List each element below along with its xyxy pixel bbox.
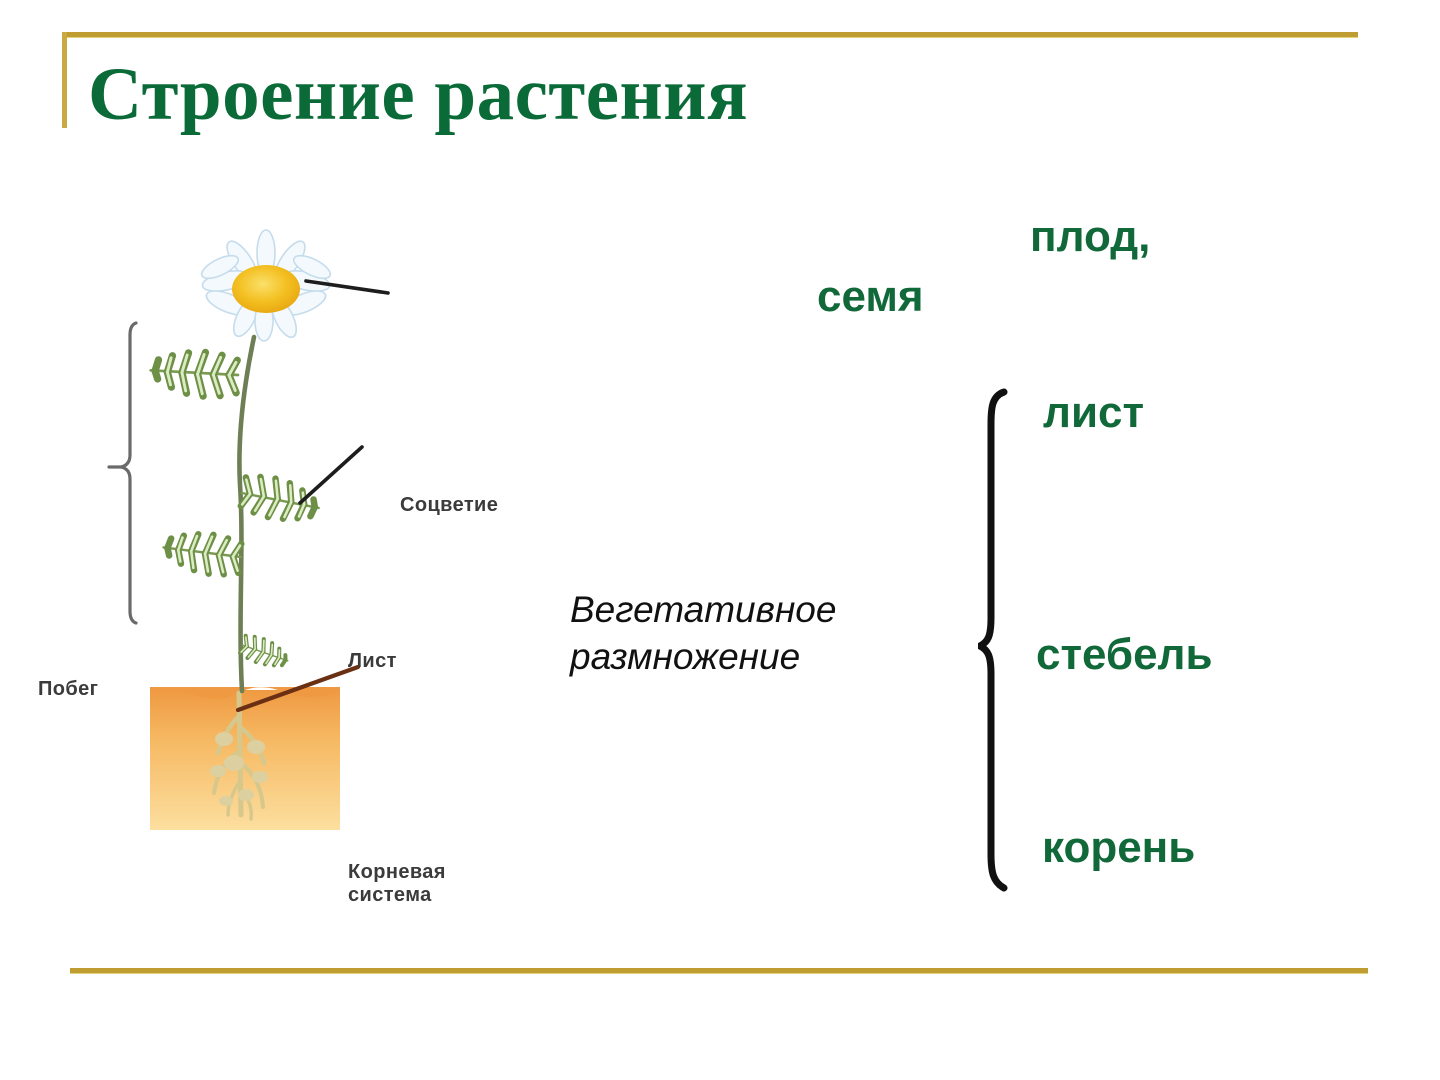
gold-rule-top (62, 32, 1358, 37)
label-fruit: плод, (1030, 212, 1150, 262)
label-inflorescence: Соцветие (400, 494, 498, 517)
flower-head (199, 230, 334, 341)
curly-brace-icon (978, 380, 1018, 900)
label-root-system-line2: система (348, 884, 432, 906)
page-title: Строение растения (88, 52, 748, 138)
pointer-leaf (300, 447, 362, 503)
vegetative-propagation-caption: Вегетативное размножение (570, 586, 836, 681)
label-vegetative-stem: стебель (1036, 630, 1213, 680)
leaf-upper-left (149, 347, 240, 400)
gold-rule-left (62, 32, 67, 128)
leaf-mid-right (238, 472, 323, 529)
label-vegetative-root: корень (1042, 823, 1195, 873)
label-root-system-line1: Корневая (348, 861, 446, 883)
slide-canvas: Строение растения (0, 0, 1440, 1080)
leaf-lower-left (160, 527, 244, 579)
label-root-system: Корневая система (348, 861, 446, 907)
leaf-base-right (238, 632, 292, 673)
plant-diagram: Соцветие Лист Побег Корневая система (10, 215, 550, 835)
shoot-brace (109, 323, 136, 623)
label-leaf: Лист (348, 650, 397, 673)
gold-rule-bottom (70, 968, 1368, 973)
label-shoot: Побег (38, 678, 98, 701)
label-seed: семя (817, 272, 924, 322)
label-vegetative-leaf: лист (1043, 388, 1144, 438)
